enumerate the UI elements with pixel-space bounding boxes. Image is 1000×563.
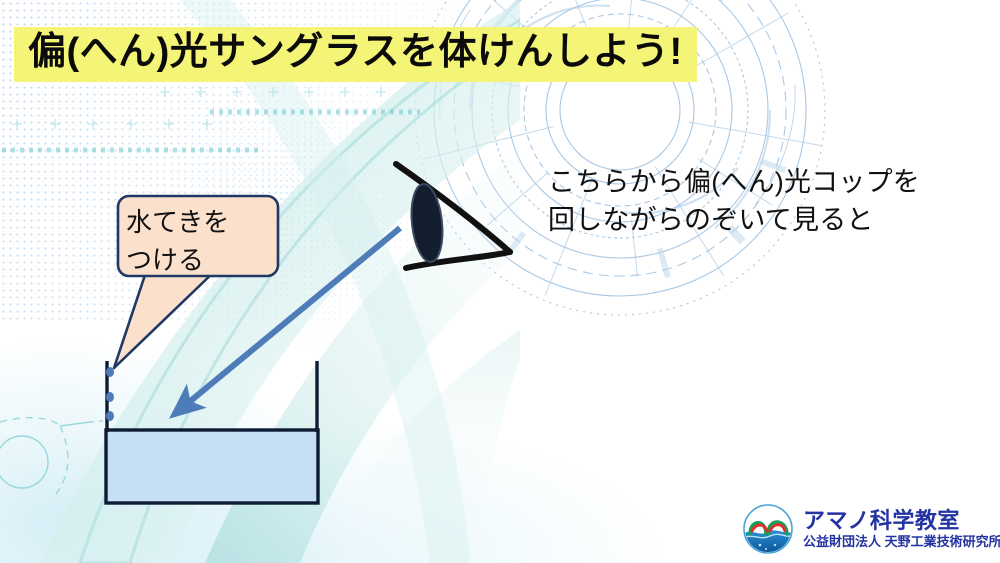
- logo-subtitle: 公益財団法人 天野工業技術研究所: [803, 535, 1000, 548]
- water-container: [92, 350, 342, 520]
- callout-text: 水てきを つける: [126, 204, 286, 279]
- logo-text-block: アマノ科学教室 公益財団法人 天野工業技術研究所: [803, 510, 1000, 548]
- droplet: [106, 392, 114, 402]
- logo-title: アマノ科学教室: [803, 510, 1000, 532]
- droplet: [106, 411, 114, 421]
- page-title: 偏(へん)光サングラスを体けんしよう!: [28, 31, 683, 73]
- slide-title-banner: 偏(へん)光サングラスを体けんしよう!: [14, 27, 697, 82]
- callout-line-1: 水てきを: [126, 204, 286, 242]
- instruction-line-2: 回しながらのぞいて見ると: [548, 201, 968, 239]
- amano-circular-logo-mark: [742, 503, 794, 555]
- instruction-text: こちらから偏(へん)光コップを 回しながらのぞいて見ると: [548, 163, 968, 240]
- slide-canvas: 偏(へん)光サングラスを体けんしよう! こちらから偏(へん)光コップを 回しなが…: [0, 0, 1000, 563]
- droplet: [106, 367, 114, 377]
- instruction-line-1: こちらから偏(へん)光コップを: [548, 163, 968, 201]
- organization-logo: アマノ科学教室 公益財団法人 天野工業技術研究所: [742, 500, 992, 558]
- callout-line-2: つける: [126, 242, 286, 280]
